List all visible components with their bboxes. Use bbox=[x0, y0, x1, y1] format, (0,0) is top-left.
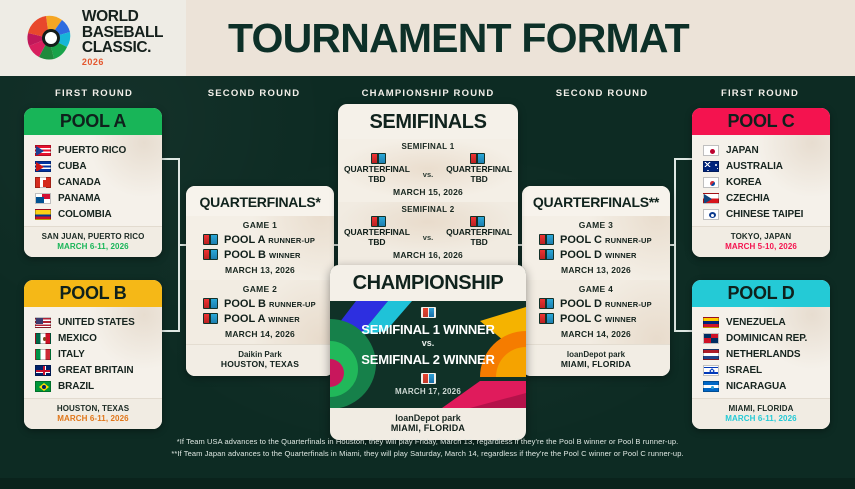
quarterfinals-right-venue: loanDepot park MIAMI, FLORIDA bbox=[522, 344, 670, 376]
flag-czechia-icon bbox=[703, 193, 719, 204]
matchup-row: POOL A WINNER bbox=[186, 311, 334, 326]
matchup-row: POOL C RUNNER-UP bbox=[522, 232, 670, 247]
vs-label: vs. bbox=[423, 233, 433, 242]
semifinal-2-badges bbox=[338, 216, 518, 227]
matchup-row: POOL D WINNER bbox=[522, 247, 670, 262]
championship-content: SEMIFINAL 1 WINNER vs. SEMIFINAL 2 WINNE… bbox=[330, 301, 526, 396]
rank-ref: RUNNER-UP bbox=[605, 300, 652, 309]
quarterfinals-right-title: QUARTERFINALS** bbox=[522, 186, 670, 216]
pool-card-a[interactable]: POOL A PUERTO RICO CUBA CANADA bbox=[24, 108, 162, 257]
pool-ref: POOL B bbox=[224, 249, 266, 261]
rank-ref: RUNNER-UP bbox=[268, 236, 315, 245]
game-label: GAME 2 bbox=[186, 284, 334, 294]
pool-a-header: POOL A bbox=[24, 108, 162, 135]
flag-japan-icon bbox=[703, 145, 719, 156]
flag-mexico-icon bbox=[35, 333, 51, 344]
team-slot: QUARTERFINAL TBD bbox=[440, 164, 518, 184]
team-badge-icon bbox=[203, 234, 218, 245]
team-slot: QUARTERFINAL TBD bbox=[338, 164, 416, 184]
team-name: CHINESE TAIPEI bbox=[726, 209, 803, 220]
team-name: JAPAN bbox=[726, 145, 759, 156]
game-label: GAME 3 bbox=[522, 220, 670, 230]
connector-pool-d-horizontal bbox=[674, 330, 692, 332]
list-item: ISRAEL bbox=[692, 362, 830, 378]
list-item: CUBA bbox=[24, 158, 162, 174]
pool-c-header: POOL C bbox=[692, 108, 830, 135]
bottom-letterbox bbox=[0, 478, 855, 489]
list-item: JAPAN bbox=[692, 142, 830, 158]
team-badge-icon bbox=[539, 234, 554, 245]
list-item: VENEZUELA bbox=[692, 314, 830, 330]
team-name: AUSTRALIA bbox=[726, 161, 783, 172]
quarterfinals-left-venue: Daikin Park HOUSTON, TEXAS bbox=[186, 344, 334, 376]
team-badge-icon bbox=[371, 153, 386, 164]
semifinal-2: SEMIFINAL 2 QUARTERFINAL TBD vs. QUARTER… bbox=[338, 202, 518, 265]
quarterfinal-game-1: GAME 1 POOL A RUNNER-UP POOL B WINNER MA… bbox=[186, 216, 334, 280]
semifinal-1-matchup: QUARTERFINAL TBD vs. QUARTERFINAL TBD bbox=[338, 164, 518, 184]
game-label: GAME 4 bbox=[522, 284, 670, 294]
flag-venezuela-icon bbox=[703, 317, 719, 328]
pool-card-d[interactable]: POOL D VENEZUELA DOMINICAN REP. NETHERLA… bbox=[692, 280, 830, 429]
pool-a-teams: PUERTO RICO CUBA CANADA PANAMA bbox=[24, 135, 162, 226]
page-title: TOURNAMENT FORMAT bbox=[228, 15, 689, 62]
championship-title: CHAMPIONSHIP bbox=[330, 265, 526, 301]
rank-ref: WINNER bbox=[605, 251, 637, 260]
venue-name: Daikin Park bbox=[190, 350, 330, 359]
flag-panama-icon bbox=[35, 193, 51, 204]
tournament-format-infographic: WORLD BASEBALL CLASSIC. 2026 TOURNAMENT … bbox=[0, 0, 855, 489]
flag-nicaragua-icon bbox=[703, 381, 719, 392]
rank-ref: WINNER bbox=[605, 315, 637, 324]
team-slot: POOL C WINNER bbox=[560, 313, 637, 325]
venue-city: MIAMI, FLORIDA bbox=[696, 404, 826, 413]
game-date: MARCH 14, 2026 bbox=[186, 329, 334, 339]
team-badge-icon bbox=[539, 249, 554, 260]
team-name: VENEZUELA bbox=[726, 317, 786, 328]
team-name: GREAT BRITAIN bbox=[58, 365, 134, 376]
team-name: ISRAEL bbox=[726, 365, 762, 376]
team-badge-icon bbox=[203, 298, 218, 309]
quarterfinals-right-card[interactable]: QUARTERFINALS** GAME 3 POOL C RUNNER-UP … bbox=[522, 186, 670, 376]
team-slot: POOL B WINNER bbox=[224, 249, 301, 261]
team-badge-icon bbox=[421, 373, 436, 384]
pool-d-venue: MIAMI, FLORIDA MARCH 6-11, 2026 bbox=[692, 398, 830, 429]
team-badge-icon bbox=[371, 216, 386, 227]
wbc-logo-text: WORLD BASEBALL CLASSIC. 2026 bbox=[82, 9, 163, 67]
flag-netherlands-icon bbox=[703, 349, 719, 360]
list-item: NETHERLANDS bbox=[692, 346, 830, 362]
venue-city: SAN JUAN, PUERTO RICO bbox=[28, 232, 158, 241]
quarterfinal-game-3: GAME 3 POOL C RUNNER-UP POOL D WINNER MA… bbox=[522, 216, 670, 280]
quarterfinal-game-4: GAME 4 POOL D RUNNER-UP POOL C WINNER MA… bbox=[522, 280, 670, 344]
list-item: KOREA bbox=[692, 174, 830, 190]
team-name: CANADA bbox=[58, 177, 101, 188]
round-label-championship: CHAMPIONSHIP ROUND bbox=[336, 88, 520, 99]
team-name: PUERTO RICO bbox=[58, 145, 126, 156]
list-item: PUERTO RICO bbox=[24, 142, 162, 158]
venue-name: loanDepot park bbox=[526, 350, 666, 359]
list-item: NICARAGUA bbox=[692, 378, 830, 394]
venue-name: loanDepot park bbox=[330, 413, 526, 423]
flag-colombia-icon bbox=[35, 209, 51, 220]
flag-chinese-taipei-icon bbox=[703, 209, 719, 220]
team-slot: POOL C RUNNER-UP bbox=[560, 234, 652, 246]
flag-cuba-icon bbox=[35, 161, 51, 172]
game-date: MARCH 15, 2026 bbox=[338, 187, 518, 197]
team-slot: POOL D WINNER bbox=[560, 249, 637, 261]
round-label-second-right: SECOND ROUND bbox=[520, 88, 684, 99]
team-badge-icon bbox=[539, 298, 554, 309]
game-date: MARCH 13, 2026 bbox=[522, 265, 670, 275]
team-slot: QUARTERFINAL TBD bbox=[440, 227, 518, 247]
venue-city: HOUSTON, TEXAS bbox=[190, 359, 330, 369]
championship-card[interactable]: CHAMPIONSHIP SEMIFINAL 1 WINNER vs. SEMI… bbox=[330, 265, 526, 440]
flag-puerto-rico-icon bbox=[35, 145, 51, 156]
game-date: MARCH 13, 2026 bbox=[186, 265, 334, 275]
flag-australia-icon bbox=[703, 161, 719, 172]
quarterfinals-left-title: QUARTERFINALS* bbox=[186, 186, 334, 216]
team-name: COLOMBIA bbox=[58, 209, 112, 220]
team-name: NETHERLANDS bbox=[726, 349, 800, 360]
venue-city: HOUSTON, TEXAS bbox=[28, 404, 158, 413]
pool-ref: POOL A bbox=[224, 313, 265, 325]
pool-b-venue: HOUSTON, TEXAS MARCH 6-11, 2026 bbox=[24, 398, 162, 429]
matchup-row: POOL B WINNER bbox=[186, 247, 334, 262]
rank-ref: WINNER bbox=[269, 251, 301, 260]
semifinal-label: SEMIFINAL 1 bbox=[338, 142, 518, 151]
page-title-bar: TOURNAMENT FORMAT bbox=[186, 0, 855, 76]
flag-israel-icon bbox=[703, 365, 719, 376]
rank-ref: RUNNER-UP bbox=[605, 236, 652, 245]
flag-canada-icon bbox=[35, 177, 51, 188]
pool-ref: POOL D bbox=[560, 249, 602, 261]
quarterfinal-game-2: GAME 2 POOL B RUNNER-UP POOL A WINNER MA… bbox=[186, 280, 334, 344]
team-name: ITALY bbox=[58, 349, 85, 360]
logo-line-3: CLASSIC. bbox=[82, 40, 163, 56]
rank-ref: RUNNER-UP bbox=[269, 300, 316, 309]
team-name: NICARAGUA bbox=[726, 381, 786, 392]
pool-a-title: POOL A bbox=[60, 111, 126, 132]
flag-korea-icon bbox=[703, 177, 719, 188]
team-name: PANAMA bbox=[58, 193, 101, 204]
rank-ref: WINNER bbox=[268, 315, 300, 324]
round-label-first-right: FIRST ROUND bbox=[684, 88, 836, 99]
round-label-second-left: SECOND ROUND bbox=[172, 88, 336, 99]
venue-dates: MARCH 6-11, 2026 bbox=[696, 414, 826, 423]
team-name: MEXICO bbox=[58, 333, 97, 344]
logo-line-2: BASEBALL bbox=[82, 25, 163, 41]
pool-ref: POOL D bbox=[560, 298, 602, 310]
team-name: KOREA bbox=[726, 177, 762, 188]
team-name: CZECHIA bbox=[726, 193, 770, 204]
pool-ref: POOL A bbox=[224, 234, 265, 246]
connector-pool-c-horizontal bbox=[674, 158, 692, 160]
team-slot: POOL A WINNER bbox=[224, 313, 300, 325]
list-item: CANADA bbox=[24, 174, 162, 190]
pool-ref: POOL C bbox=[560, 313, 602, 325]
pool-c-venue: TOKYO, JAPAN MARCH 5-10, 2026 bbox=[692, 226, 830, 257]
game-label: GAME 1 bbox=[186, 220, 334, 230]
venue-city: MIAMI, FLORIDA bbox=[526, 359, 666, 369]
venue-city: MIAMI, FLORIDA bbox=[330, 423, 526, 433]
matchup-row: POOL C WINNER bbox=[522, 311, 670, 326]
team-badge-icon bbox=[539, 313, 554, 324]
pool-d-teams: VENEZUELA DOMINICAN REP. NETHERLANDS bbox=[692, 307, 830, 398]
semifinal-1: SEMIFINAL 1 QUARTERFINAL TBD vs. QUARTER… bbox=[338, 139, 518, 202]
pool-ref: POOL C bbox=[560, 234, 602, 246]
matchup-row: POOL B RUNNER-UP bbox=[186, 296, 334, 311]
team-badge-icon bbox=[470, 153, 485, 164]
pool-b-header: POOL B bbox=[24, 280, 162, 307]
venue-dates: MARCH 5-10, 2026 bbox=[696, 242, 826, 251]
team-slot: QUARTERFINAL TBD bbox=[338, 227, 416, 247]
wbc-logo: WORLD BASEBALL CLASSIC. 2026 bbox=[0, 0, 186, 76]
pool-b-title: POOL B bbox=[60, 283, 127, 304]
list-item: UNITED STATES bbox=[24, 314, 162, 330]
quarterfinals-left-card[interactable]: QUARTERFINALS* GAME 1 POOL A RUNNER-UP P… bbox=[186, 186, 334, 376]
team-slot: SEMIFINAL 2 WINNER bbox=[330, 352, 526, 367]
flag-dominican-republic-icon bbox=[703, 333, 719, 344]
flag-italy-icon bbox=[35, 349, 51, 360]
list-item: PANAMA bbox=[24, 190, 162, 206]
pool-d-title: POOL D bbox=[728, 283, 795, 304]
logo-year: 2026 bbox=[82, 58, 163, 67]
semifinal-1-badges bbox=[338, 153, 518, 164]
team-name: DOMINICAN REP. bbox=[726, 333, 807, 344]
venue-city: TOKYO, JAPAN bbox=[696, 232, 826, 241]
flag-united-states-icon bbox=[35, 317, 51, 328]
team-name: BRAZIL bbox=[58, 381, 94, 392]
team-badge-icon bbox=[470, 216, 485, 227]
footnote-2: **If Team Japan advances to the Quarterf… bbox=[0, 448, 855, 460]
pool-c-teams: JAPAN AUSTRALIA KOREA CZECHIA bbox=[692, 135, 830, 226]
matchup-row: POOL D RUNNER-UP bbox=[522, 296, 670, 311]
list-item: DOMINICAN REP. bbox=[692, 330, 830, 346]
game-date: MARCH 16, 2026 bbox=[338, 250, 518, 260]
team-slot: POOL B RUNNER-UP bbox=[224, 298, 316, 310]
list-item: CZECHIA bbox=[692, 190, 830, 206]
wbc-pinwheel-logo-icon bbox=[23, 12, 75, 64]
footnote-1: *If Team USA advances to the Quarterfina… bbox=[0, 436, 855, 448]
pool-c-title: POOL C bbox=[728, 111, 795, 132]
list-item: AUSTRALIA bbox=[692, 158, 830, 174]
header: WORLD BASEBALL CLASSIC. 2026 TOURNAMENT … bbox=[0, 0, 855, 76]
team-slot: SEMIFINAL 1 WINNER bbox=[330, 322, 526, 337]
team-badge-icon bbox=[421, 307, 436, 318]
championship-body: SEMIFINAL 1 WINNER vs. SEMIFINAL 2 WINNE… bbox=[330, 301, 526, 408]
pool-b-teams: UNITED STATES MEXICO ITALY GREAT BRITAIN bbox=[24, 307, 162, 398]
logo-line-1: WORLD bbox=[82, 9, 163, 25]
round-label-first-left: FIRST ROUND bbox=[18, 88, 170, 99]
team-name: UNITED STATES bbox=[58, 317, 135, 328]
team-name: CUBA bbox=[58, 161, 87, 172]
pool-card-c[interactable]: POOL C JAPAN AUSTRALIA KOREA bbox=[692, 108, 830, 257]
venue-dates: MARCH 6-11, 2026 bbox=[28, 414, 158, 423]
pool-a-venue: SAN JUAN, PUERTO RICO MARCH 6-11, 2026 bbox=[24, 226, 162, 257]
pool-card-b[interactable]: POOL B UNITED STATES MEXICO ITALY bbox=[24, 280, 162, 429]
team-badge-icon bbox=[203, 249, 218, 260]
list-item: CHINESE TAIPEI bbox=[692, 206, 830, 222]
list-item: ITALY bbox=[24, 346, 162, 362]
semifinal-2-matchup: QUARTERFINAL TBD vs. QUARTERFINAL TBD bbox=[338, 227, 518, 247]
team-slot: POOL D RUNNER-UP bbox=[560, 298, 652, 310]
venue-dates: MARCH 6-11, 2026 bbox=[28, 242, 158, 251]
vs-label: vs. bbox=[330, 338, 526, 348]
game-date: MARCH 14, 2026 bbox=[522, 329, 670, 339]
pool-d-header: POOL D bbox=[692, 280, 830, 307]
flag-brazil-icon bbox=[35, 381, 51, 392]
vs-label: vs. bbox=[423, 170, 433, 179]
footnotes: *If Team USA advances to the Quarterfina… bbox=[0, 436, 855, 459]
team-badge-icon bbox=[203, 313, 218, 324]
semifinals-title: SEMIFINALS bbox=[338, 104, 518, 139]
list-item: BRAZIL bbox=[24, 378, 162, 394]
game-date: MARCH 17, 2026 bbox=[330, 387, 526, 396]
pool-ref: POOL B bbox=[224, 298, 266, 310]
list-item: COLOMBIA bbox=[24, 206, 162, 222]
team-slot: POOL A RUNNER-UP bbox=[224, 234, 315, 246]
list-item: GREAT BRITAIN bbox=[24, 362, 162, 378]
list-item: MEXICO bbox=[24, 330, 162, 346]
matchup-row: POOL A RUNNER-UP bbox=[186, 232, 334, 247]
semifinal-label: SEMIFINAL 2 bbox=[338, 205, 518, 214]
flag-great-britain-icon bbox=[35, 365, 51, 376]
